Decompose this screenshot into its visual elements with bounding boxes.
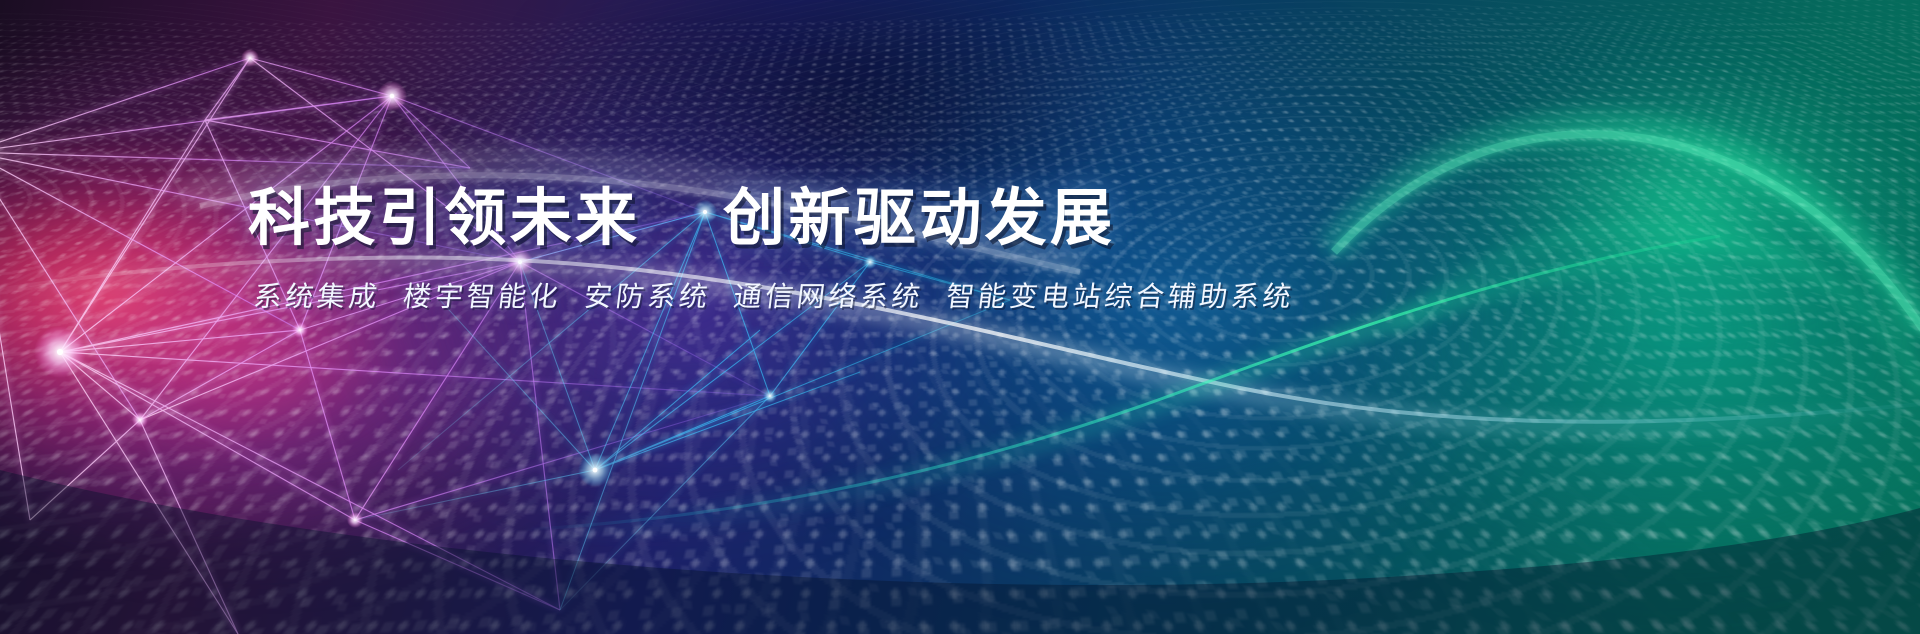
banner-subtitle: 系统集成 楼宇智能化 安防系统 通信网络系统 智能变电站综合辅助系统 <box>252 275 1381 315</box>
banner-copy: 科技引领未来 创新驱动发展 系统集成 楼宇智能化 安防系统 通信网络系统 智能变… <box>248 186 1378 315</box>
tech-hero-banner: 科技引领未来 创新驱动发展 系统集成 楼宇智能化 安防系统 通信网络系统 智能变… <box>0 0 1920 634</box>
vector-decoration-layer <box>0 0 1920 634</box>
page-title: 科技引领未来 创新驱动发展 <box>248 186 1378 251</box>
bottom-shade <box>0 470 1920 634</box>
